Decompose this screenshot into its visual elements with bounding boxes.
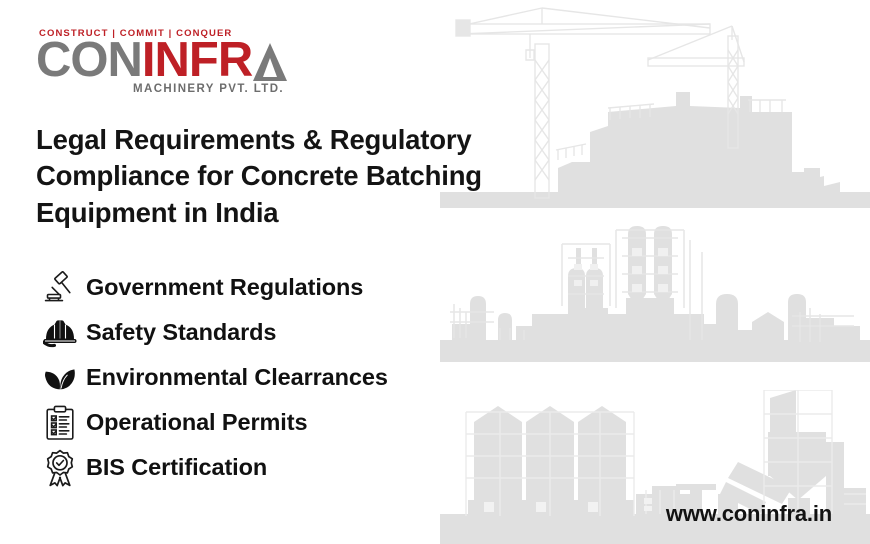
list-item-bis-certification: BIS Certification xyxy=(34,445,474,490)
poster-canvas: CONSTRUCT | COMMIT | CONQUER CON INFR MA… xyxy=(0,0,870,544)
list-item-label: Operational Permits xyxy=(86,409,307,436)
company-logo: CONSTRUCT | COMMIT | CONQUER CON INFR MA… xyxy=(36,28,286,95)
logo-word-infr: INFR xyxy=(142,40,252,81)
list-item-label: Environmental Clearrances xyxy=(86,364,388,391)
gavel-icon xyxy=(34,267,86,309)
website-url[interactable]: www.coninfra.in xyxy=(666,501,832,527)
list-item-label: Safety Standards xyxy=(86,319,276,346)
leaf-icon xyxy=(34,357,86,399)
industrial-plant-image xyxy=(440,222,870,362)
list-item-label: Government Regulations xyxy=(86,274,363,301)
background-image-panels xyxy=(440,0,870,544)
clipboard-checklist-icon xyxy=(34,402,86,444)
list-item-government-regulations: Government Regulations xyxy=(34,265,474,310)
list-item-safety-standards: Safety Standards xyxy=(34,310,474,355)
list-item-environmental-clearances: Environmental Clearrances xyxy=(34,355,474,400)
compliance-list: Government Regulations Safety Standards xyxy=(34,265,474,490)
headline-line-3: Equipment in India xyxy=(36,195,576,231)
hard-hat-icon xyxy=(34,312,86,354)
list-item-label: BIS Certification xyxy=(86,454,267,481)
logo-word-con: CON xyxy=(36,40,142,81)
headline-line-1: Legal Requirements & Regulatory xyxy=(36,122,576,158)
logo-triangle-a-icon xyxy=(253,43,287,81)
page-title: Legal Requirements & Regulatory Complian… xyxy=(36,122,576,231)
list-item-operational-permits: Operational Permits xyxy=(34,400,474,445)
logo-wordmark: CON INFR xyxy=(36,40,286,81)
headline-line-2: Compliance for Concrete Batching xyxy=(36,158,576,194)
certification-badge-icon xyxy=(34,447,86,489)
